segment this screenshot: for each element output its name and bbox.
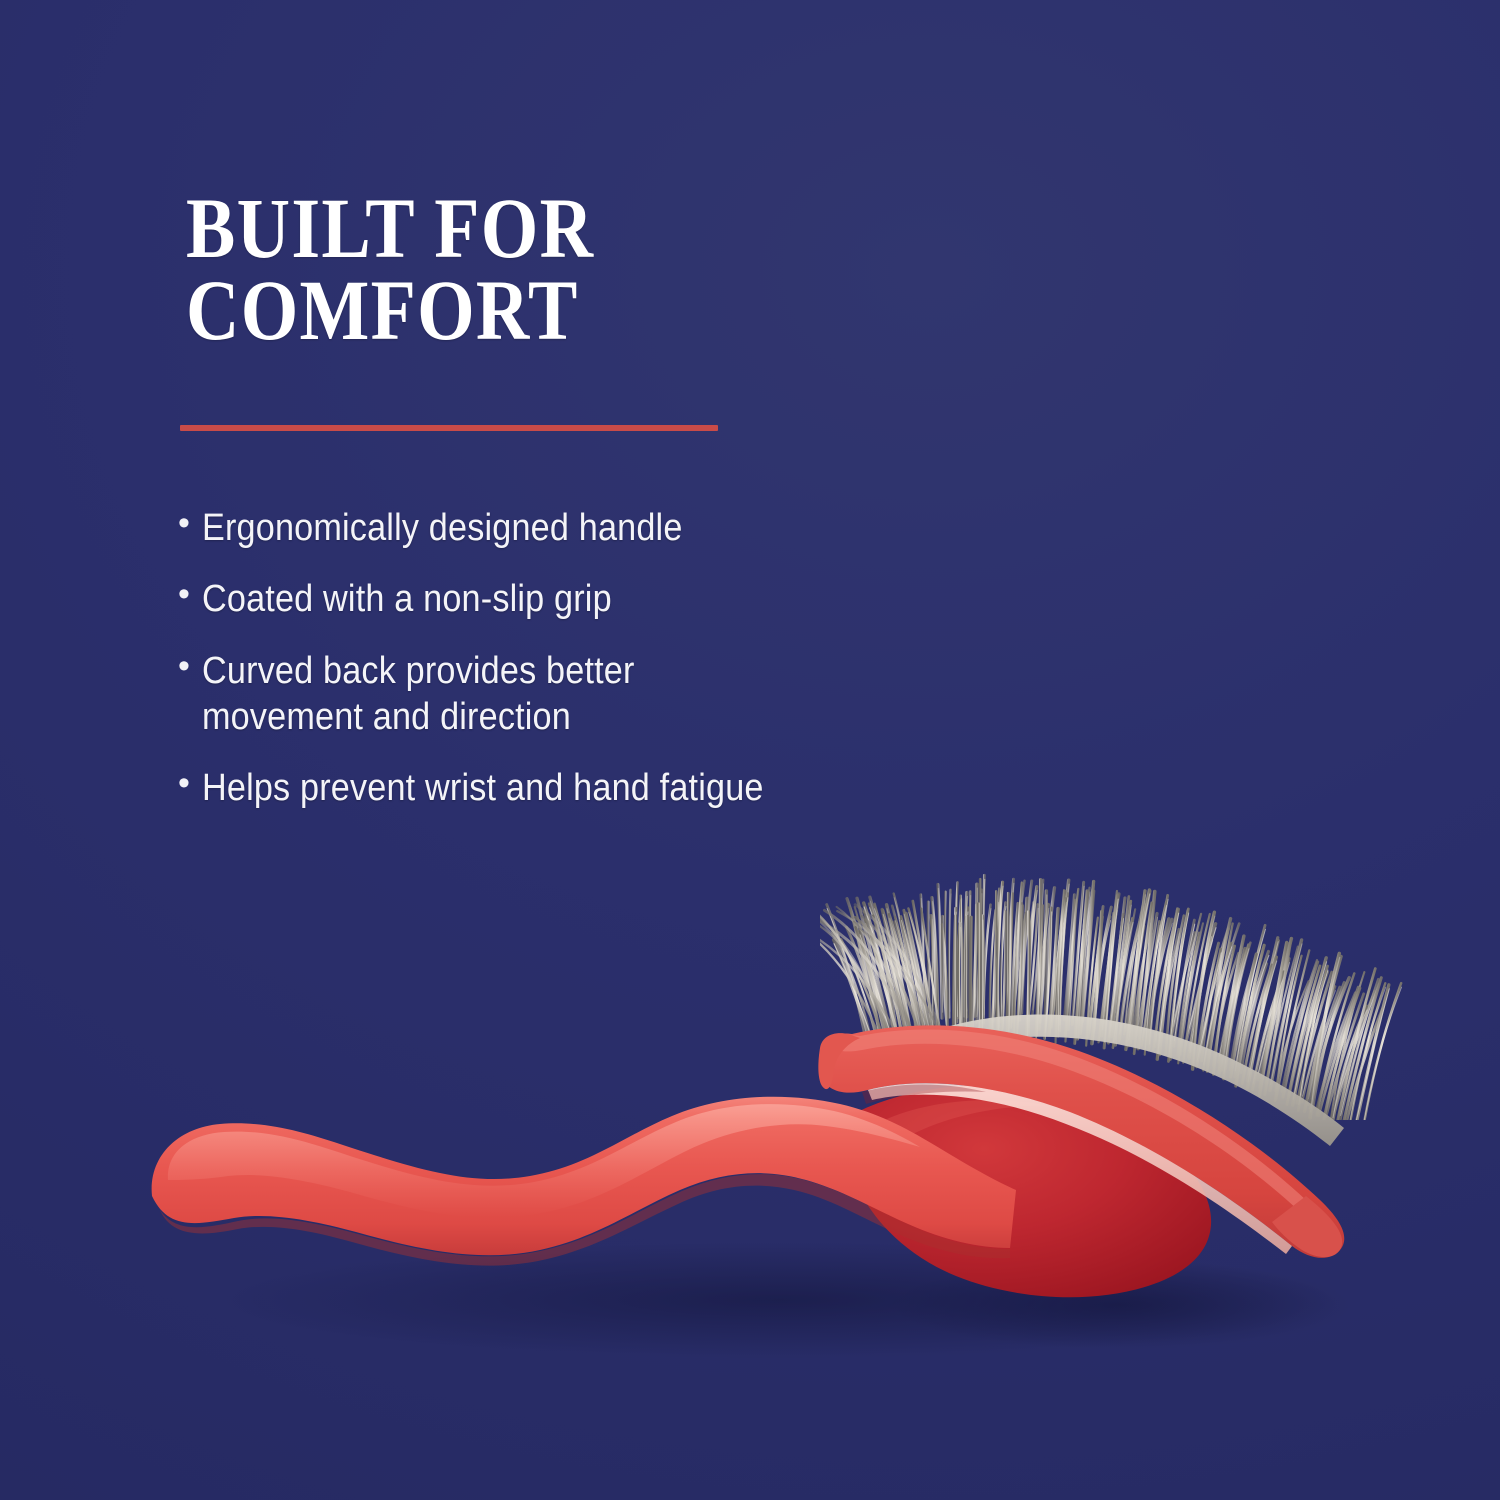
product-image (0, 0, 1500, 1500)
pin (966, 917, 967, 1033)
marketing-image: BUILT FOR COMFORT • Ergonomically design… (0, 0, 1500, 1500)
